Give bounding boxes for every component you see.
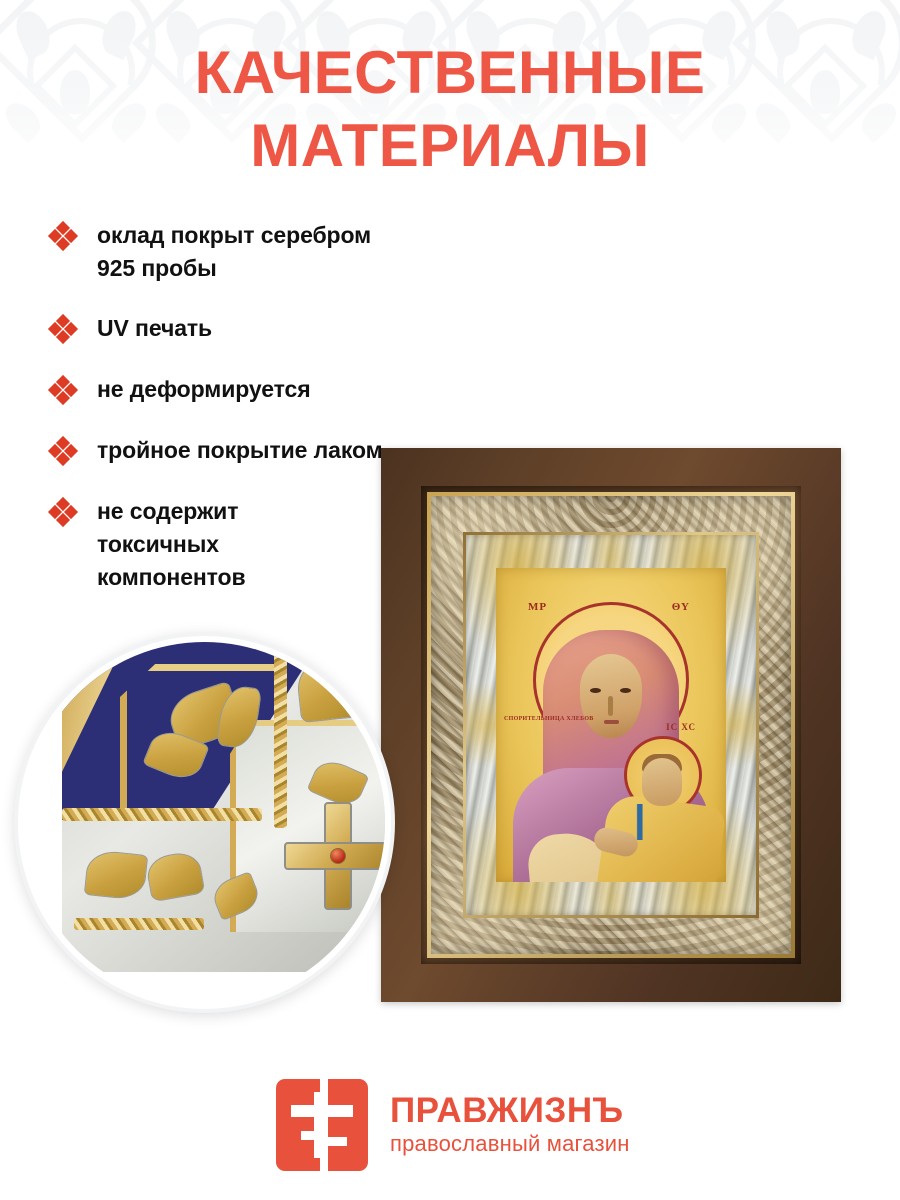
brand-subtitle: православный магазин	[390, 1130, 630, 1158]
ornate-riza-border: МР ΘΥ ІС ХС СПОРИТЕЛЬНИЦА ХЛЕБОВ	[431, 496, 791, 954]
inscription-title-band: СПОРИТЕЛЬНИЦА ХЛЕБОВ	[504, 716, 594, 722]
brand-text-block: ПРАВЖИЗНЪ православный магазин	[390, 1092, 630, 1158]
feature-label: не деформируется	[97, 373, 311, 406]
oklad-detail-magnifier	[14, 632, 395, 1013]
feature-label: тройное покрытие лаком	[97, 434, 383, 467]
detail-red-gem	[330, 848, 346, 864]
diamond-cluster-icon	[50, 377, 76, 407]
book-cross-icon	[276, 1079, 368, 1171]
inscription-ic-xc: ІС ХС	[666, 722, 696, 732]
page-title: КАЧЕСТВЕННЫЕ МАТЕРИАЛЫ	[0, 36, 900, 182]
diamond-cluster-icon	[50, 499, 76, 529]
detail-scroll-ornament	[145, 850, 206, 903]
inscription-thu: ΘΥ	[672, 601, 690, 613]
promo-page: КАЧЕСТВЕННЫЕ МАТЕРИАЛЫ оклад покрыт сере…	[0, 0, 900, 1200]
inscription-mr: МР	[528, 601, 547, 613]
detail-scroll-ornament	[84, 849, 148, 901]
brand-logo[interactable]: ПРАВЖИЗНЪ православный магазин	[276, 1079, 630, 1171]
diamond-cluster-icon	[50, 438, 76, 468]
detail-rope-moulding-vertical	[274, 642, 287, 828]
diamond-cluster-icon	[50, 223, 76, 253]
list-item: UV печать	[50, 312, 410, 346]
detail-scroll-ornament	[295, 655, 363, 723]
list-item: не деформируется	[50, 373, 410, 407]
christ-child-face	[642, 758, 682, 806]
silver-oklad: МР ΘΥ ІС ХС СПОРИТЕЛЬНИЦА ХЛЕБОВ	[466, 535, 756, 915]
list-item: не содержит токсичных компонентов	[50, 495, 410, 594]
wood-frame-bevel: МР ΘΥ ІС ХС СПОРИТЕЛЬНИЦА ХЛЕБОВ	[421, 486, 801, 964]
magnified-oklad-detail	[62, 642, 385, 972]
detail-rope-moulding-bottom	[74, 918, 204, 930]
feature-label: не содержит токсичных компонентов	[97, 495, 357, 594]
framed-orthodox-icon-photo: МР ΘΥ ІС ХС СПОРИТЕЛЬНИЦА ХЛЕБОВ	[381, 448, 841, 1002]
diamond-cluster-icon	[50, 316, 76, 346]
list-item: оклад покрыт серебром 925 пробы	[50, 219, 410, 285]
detail-gold-cross	[284, 802, 385, 910]
brand-name: ПРАВЖИЗНЪ	[390, 1092, 630, 1130]
feature-label: UV печать	[97, 312, 212, 345]
detail-rope-moulding-horizontal	[62, 808, 262, 821]
theotokos-face	[580, 654, 642, 738]
feature-label: оклад покрыт серебром 925 пробы	[97, 219, 410, 285]
magnifier-lens	[24, 642, 385, 1003]
gold-inlay-line: МР ΘΥ ІС ХС СПОРИТЕЛЬНИЦА ХЛЕБОВ	[427, 492, 795, 958]
list-item: тройное покрытие лаком	[50, 434, 410, 468]
feature-list: оклад покрыт серебром 925 пробы UV печат…	[50, 219, 410, 621]
icon-painted-field: МР ΘΥ ІС ХС СПОРИТЕЛЬНИЦА ХЛЕБОВ	[496, 568, 726, 882]
inner-gold-edge: МР ΘΥ ІС ХС СПОРИТЕЛЬНИЦА ХЛЕБОВ	[463, 532, 759, 918]
